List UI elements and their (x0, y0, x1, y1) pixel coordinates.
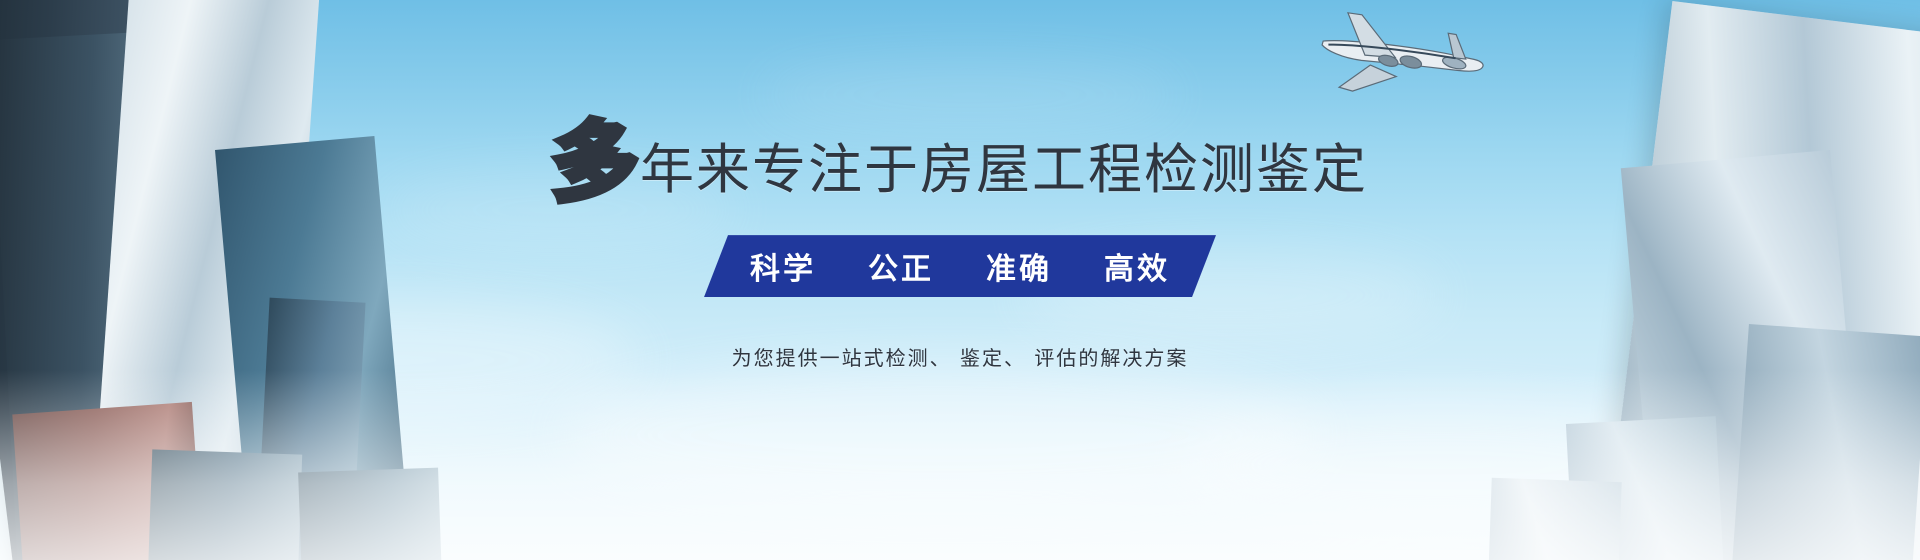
slogan-list: 科学 公正 准确 高效 (750, 244, 1170, 288)
headline: 多 年来专注于房屋工程检测鉴定 (552, 118, 1368, 197)
hero-banner: 多 年来专注于房屋工程检测鉴定 科学 公正 准确 高效 为您提供一站式检测、 鉴… (0, 0, 1920, 560)
slogan-item-1: 科学 (750, 244, 816, 288)
slogan-item-3: 准确 (986, 244, 1052, 288)
slogan-ribbon: 科学 公正 准确 高效 (704, 235, 1216, 297)
slogan-item-4: 高效 (1104, 244, 1170, 288)
headline-text: 年来专注于房屋工程检测鉴定 (640, 143, 1368, 197)
slogan-item-2: 公正 (868, 244, 934, 288)
bottom-haze (0, 370, 1920, 560)
subtitle: 为您提供一站式检测、 鉴定、 评估的解决方案 (732, 342, 1189, 371)
headline-lead-character: 多 (552, 124, 638, 203)
